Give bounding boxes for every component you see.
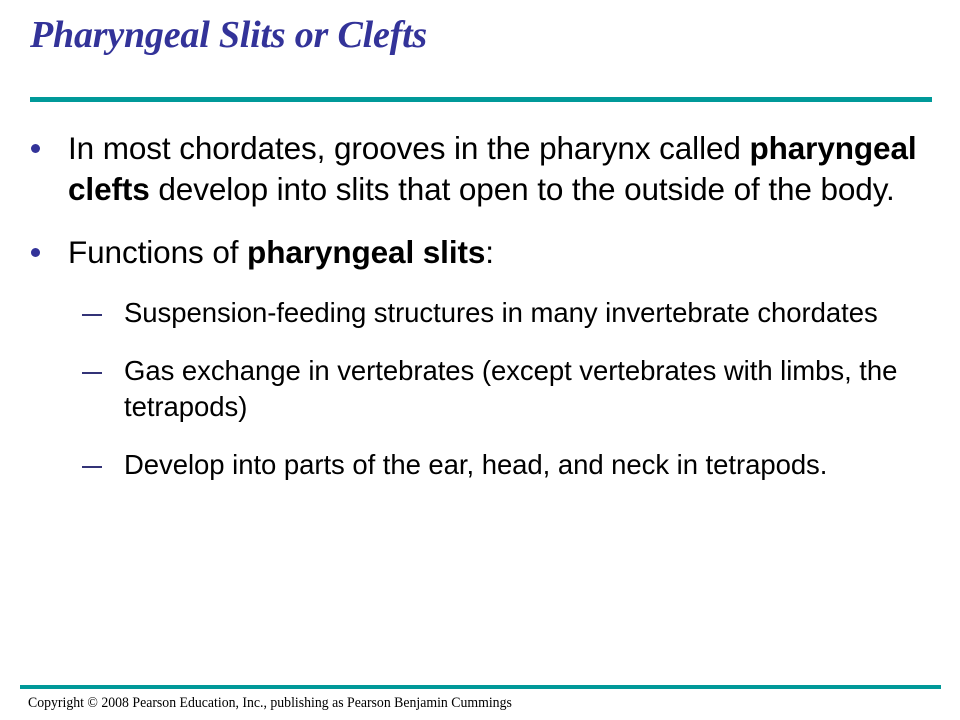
slide: Pharyngeal Slits or Clefts In most chord… [0,0,960,720]
title-divider-rule [30,97,932,102]
bullet-dash-icon [82,466,102,468]
list-item: Gas exchange in vertebrates (except vert… [22,353,938,425]
list-item: Develop into parts of the ear, head, and… [22,447,938,483]
list-item: In most chordates, grooves in the pharyn… [22,128,938,210]
bullet-dot-icon [31,144,40,153]
page-title: Pharyngeal Slits or Clefts [30,13,910,57]
bullet-text-part: Functions of [68,234,247,270]
sub-bullet-text: Develop into parts of the ear, head, and… [124,449,827,480]
list-item: Functions of pharyngeal slits: [22,232,938,273]
bullet-text: Functions of pharyngeal slits: [68,234,494,270]
slide-body: In most chordates, grooves in the pharyn… [22,128,938,483]
bullet-text-part: In most chordates, grooves in the pharyn… [68,130,749,166]
list-item: Suspension-feeding structures in many in… [22,295,938,331]
footer-divider-rule [20,685,941,689]
copyright-notice: Copyright © 2008 Pearson Education, Inc.… [28,694,512,713]
bullet-text-emphasis: pharyngeal slits [247,234,485,270]
sub-bullet-text: Suspension-feeding structures in many in… [124,297,878,328]
bullet-text-part: develop into slits that open to the outs… [150,171,895,207]
bullet-dash-icon [82,372,102,374]
bullet-text-part: : [485,234,494,270]
sub-list: Suspension-feeding structures in many in… [22,295,938,483]
bullet-dot-icon [31,248,40,257]
bullet-text: In most chordates, grooves in the pharyn… [68,130,917,207]
sub-bullet-text: Gas exchange in vertebrates (except vert… [124,355,897,422]
bullet-dash-icon [82,314,102,316]
